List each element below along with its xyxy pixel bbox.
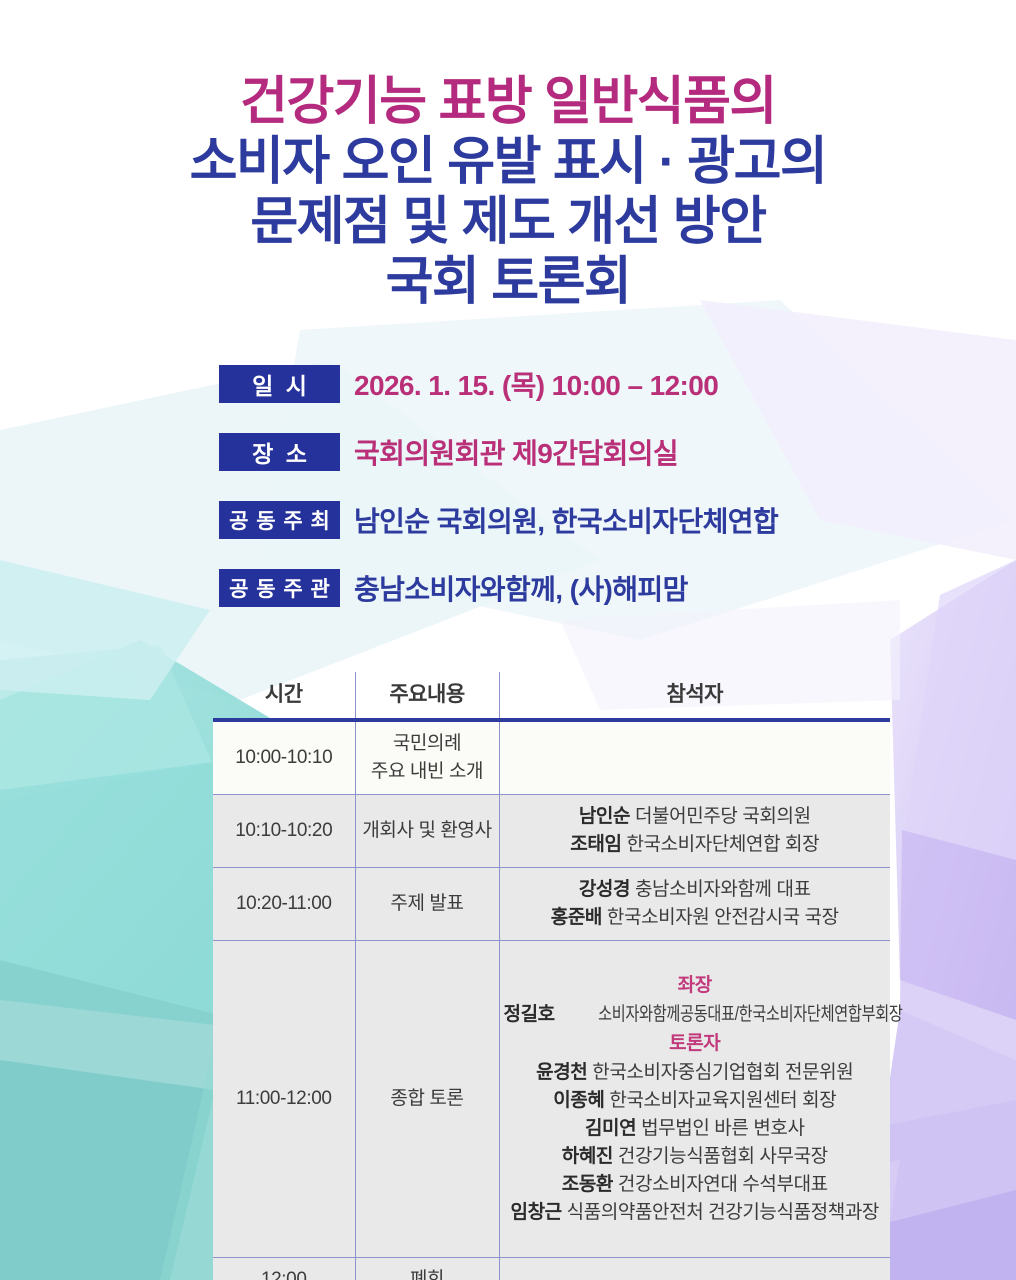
participant-line: 하혜진 건강기능식품협회 사무국장 [504, 1143, 887, 1171]
agenda-cell-topic: 국민의례 주요 내빈 소개 [355, 720, 499, 795]
agenda-cell-topic: 종합 토론 [355, 941, 499, 1258]
agenda-header-people: 참석자 [499, 672, 890, 720]
topic-line: 국민의례 [360, 730, 495, 758]
participant-affiliation: 더불어민주당 국회의원 [635, 806, 811, 827]
agenda-cell-people: 강성경 충남소비자와함께 대표 홍준배 한국소비자원 안전감시국 국장 [499, 868, 890, 941]
agenda-cell-topic: 폐회 [355, 1258, 499, 1280]
participant-name: 하혜진 [562, 1146, 613, 1167]
info-value-venue: 국회의원회관 제9간담회의실 [354, 432, 678, 472]
participant-affiliation: 한국소비자교육지원센터 회장 [609, 1090, 836, 1111]
participant-name: 홍준배 [551, 907, 602, 928]
agenda-header-time: 시간 [213, 672, 355, 720]
agenda-cell-topic: 개회사 및 환영사 [355, 795, 499, 868]
agenda-cell-people: 남인순 더불어민주당 국회의원 조태임 한국소비자단체연합 회장 [499, 795, 890, 868]
info-row-venue: 장 소 국회의원회관 제9간담회의실 [0, 433, 1016, 471]
participant-affiliation: 법무법인 바른 변호사 [641, 1118, 804, 1139]
agenda-cell-time: 11:00-12:00 [213, 941, 355, 1258]
role-label-chair: 좌장 [504, 971, 887, 1001]
participant-name: 이종혜 [553, 1090, 604, 1111]
agenda-cell-time: 12:00 [213, 1258, 355, 1280]
participant-name: 남인순 [579, 806, 630, 827]
participant-line: 홍준배 한국소비자원 안전감시국 국장 [504, 904, 887, 932]
participant-line: 이종혜 한국소비자교육지원센터 회장 [504, 1087, 887, 1115]
topic-line: 주요 내빈 소개 [360, 758, 495, 786]
participant-affiliation: 한국소비자단체연합 회장 [626, 834, 819, 855]
title-line-1: 건강기능 표방 일반식품의 [0, 72, 1016, 132]
participant-affiliation: 건강소비자연대 수석부대표 [618, 1174, 828, 1195]
participant-line: 강성경 충남소비자와함께 대표 [504, 876, 887, 904]
table-row: 11:00-12:00 종합 토론 좌장 정길호 소비자와함께공동대표/한국소비… [213, 941, 890, 1258]
participant-line: 임창근 식품의약품안전처 건강기능식품정책과장 [504, 1199, 887, 1227]
event-info-list: 일 시 2026. 1. 15. (목) 10:00 – 12:00 장 소 국… [0, 365, 1016, 637]
info-row-coorganizers: 공 동 주 관 충남소비자와함께, (사)해피맘 [0, 569, 1016, 607]
table-row: 10:10-10:20 개회사 및 환영사 남인순 더불어민주당 국회의원 조태… [213, 795, 890, 868]
topic-line: 폐회 [360, 1266, 495, 1280]
info-value-cohosts: 남인순 국회의원, 한국소비자단체연합 [354, 500, 778, 540]
participant-affiliation: 한국소비자원 안전감시국 국장 [607, 907, 839, 928]
participant-name: 조동환 [562, 1174, 613, 1195]
topic-line: 주제 발표 [360, 890, 495, 918]
agenda-cell-people: 좌장 정길호 소비자와함께공동대표/한국소비자단체연합부회장 토론자 윤경천 한… [499, 941, 890, 1258]
agenda-cell-time: 10:10-10:20 [213, 795, 355, 868]
info-label-cohosts: 공 동 주 최 [219, 501, 340, 539]
table-row: 10:20-11:00 주제 발표 강성경 충남소비자와함께 대표 홍준배 한국… [213, 868, 890, 941]
info-label-venue: 장 소 [219, 433, 340, 471]
info-row-datetime: 일 시 2026. 1. 15. (목) 10:00 – 12:00 [0, 365, 1016, 403]
info-label-datetime: 일 시 [219, 365, 340, 403]
topic-line: 개회사 및 환영사 [360, 817, 495, 845]
participant-line: 조동환 건강소비자연대 수석부대표 [504, 1171, 887, 1199]
participant-affiliation: 식품의약품안전처 건강기능식품정책과장 [567, 1202, 879, 1223]
event-poster: 건강기능 표방 일반식품의 소비자 오인 유발 표시 · 광고의 문제점 및 제… [0, 0, 1016, 1280]
agenda-cell-people [499, 720, 890, 795]
participant-name: 강성경 [579, 879, 630, 900]
participant-name: 임창근 [511, 1202, 562, 1223]
title-line-4: 국회 토론회 [0, 252, 1016, 312]
participant-affiliation: 충남소비자와함께 대표 [635, 879, 811, 900]
agenda-header-topic: 주요내용 [355, 672, 499, 720]
agenda-header-row: 시간 주요내용 참석자 [213, 672, 890, 720]
participant-affiliation: 건강기능식품협회 사무국장 [618, 1146, 828, 1167]
info-value-datetime: 2026. 1. 15. (목) 10:00 – 12:00 [354, 364, 718, 404]
role-label-panel: 토론자 [504, 1029, 887, 1059]
title-line-3: 문제점 및 제도 개선 방안 [0, 192, 1016, 252]
participant-name: 김미연 [585, 1118, 636, 1139]
participant-line: 윤경천 한국소비자중심기업협회 전문위원 [504, 1059, 887, 1087]
agenda-table: 시간 주요내용 참석자 10:00-10:10 국민의례 주요 내빈 소개 [213, 672, 890, 1280]
participant-name: 윤경천 [536, 1062, 587, 1083]
info-label-coorganizers: 공 동 주 관 [219, 569, 340, 607]
participant-line: 남인순 더불어민주당 국회의원 [504, 803, 887, 831]
info-value-coorganizers: 충남소비자와함께, (사)해피맘 [354, 568, 688, 608]
table-row: 10:00-10:10 국민의례 주요 내빈 소개 [213, 720, 890, 795]
agenda-cell-topic: 주제 발표 [355, 868, 499, 941]
info-row-cohosts: 공 동 주 최 남인순 국회의원, 한국소비자단체연합 [0, 501, 1016, 539]
participant-line: 김미연 법무법인 바른 변호사 [504, 1115, 887, 1143]
topic-line: 종합 토론 [360, 1085, 495, 1113]
agenda-table-wrapper: 시간 주요내용 참석자 10:00-10:10 국민의례 주요 내빈 소개 [213, 672, 890, 1280]
agenda-cell-people [499, 1258, 890, 1280]
participant-name: 정길호 [504, 1004, 555, 1025]
participant-line: 조태임 한국소비자단체연합 회장 [504, 831, 887, 859]
participant-line-chair: 정길호 소비자와함께공동대표/한국소비자단체연합부회장 [504, 1001, 887, 1029]
participant-affiliation: 한국소비자중심기업협회 전문위원 [592, 1062, 853, 1083]
poster-title: 건강기능 표방 일반식품의 소비자 오인 유발 표시 · 광고의 문제점 및 제… [0, 72, 1016, 312]
title-line-2: 소비자 오인 유발 표시 · 광고의 [0, 132, 1016, 192]
participant-name: 조태임 [570, 834, 621, 855]
table-row: 12:00 폐회 [213, 1258, 890, 1280]
agenda-cell-time: 10:20-11:00 [213, 868, 355, 941]
agenda-cell-time: 10:00-10:10 [213, 720, 355, 795]
participant-affiliation: 소비자와함께공동대표/한국소비자단체연합부회장 [598, 1001, 903, 1029]
